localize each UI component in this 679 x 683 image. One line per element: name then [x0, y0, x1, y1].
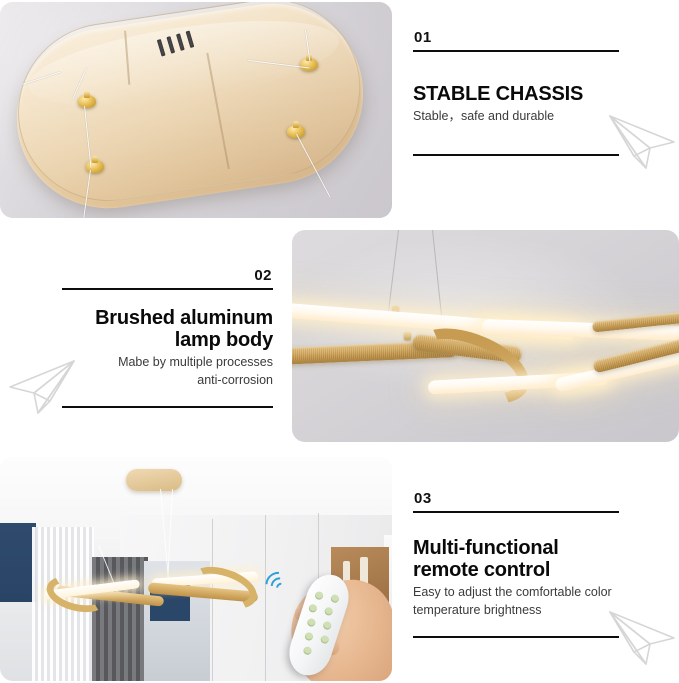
feature-heading: Multi-functional remote control — [413, 537, 619, 582]
remote-button[interactable] — [314, 591, 324, 601]
infographic-page: 01 STABLE CHASSIS Stable，safe and durabl… — [0, 0, 679, 683]
cable-anchor — [78, 95, 96, 108]
rule-bottom — [413, 154, 619, 156]
feature-block-01: 01 STABLE CHASSIS Stable，safe and durabl… — [413, 26, 619, 156]
window-blinds — [92, 557, 148, 681]
remote-button[interactable] — [306, 617, 316, 627]
wardrobe-seam — [265, 515, 266, 681]
feature-subtitle-line1: Easy to adjust the comfortable color — [413, 585, 619, 600]
photo-ceiling-chassis-plate — [0, 2, 392, 218]
remote-button[interactable] — [330, 594, 340, 604]
feature-heading: STABLE CHASSIS — [413, 83, 619, 105]
remote-button[interactable] — [302, 646, 312, 656]
feature-block-02: 02 Brushed aluminum lamp body Mabe by mu… — [62, 264, 273, 408]
photo-room-scene-with-remote — [0, 457, 392, 681]
cable-anchor — [86, 160, 104, 173]
section-number: 02 — [254, 266, 272, 286]
rule-bottom — [413, 636, 619, 638]
remote-button[interactable] — [304, 631, 314, 641]
remote-button[interactable] — [308, 603, 318, 613]
rule-top — [62, 288, 273, 290]
remote-button[interactable] — [320, 634, 330, 644]
paper-plane-icon — [606, 608, 678, 670]
feature-heading: Brushed aluminum lamp body — [62, 307, 273, 352]
section-number: 03 — [414, 489, 432, 509]
paper-plane-icon — [606, 112, 678, 174]
photo-brushed-gold-lamp-body — [292, 230, 679, 442]
feature-subtitle: Stable，safe and durable — [413, 109, 619, 124]
paper-plane-icon — [6, 357, 78, 419]
feature-subtitle-line2: temperature brightness — [413, 603, 619, 618]
feature-subtitle-line2: anti-corrosion — [62, 373, 273, 388]
feature-subtitle-line1: Mabe by multiple processes — [62, 355, 273, 370]
number-row: 03 — [413, 487, 619, 511]
rule-bottom — [62, 406, 273, 408]
number-row: 01 — [413, 26, 619, 50]
window — [0, 523, 36, 681]
cable-clip — [404, 332, 411, 340]
rule-top — [413, 50, 619, 52]
section-number: 01 — [414, 28, 432, 48]
cable-anchor — [287, 125, 305, 138]
ceiling-mount-plate — [126, 469, 182, 491]
feature-block-03: 03 Multi-functional remote control Easy … — [413, 487, 619, 638]
rule-top — [413, 511, 619, 513]
remote-button[interactable] — [322, 621, 332, 631]
remote-button[interactable] — [324, 606, 334, 616]
number-row: 02 — [62, 264, 273, 288]
